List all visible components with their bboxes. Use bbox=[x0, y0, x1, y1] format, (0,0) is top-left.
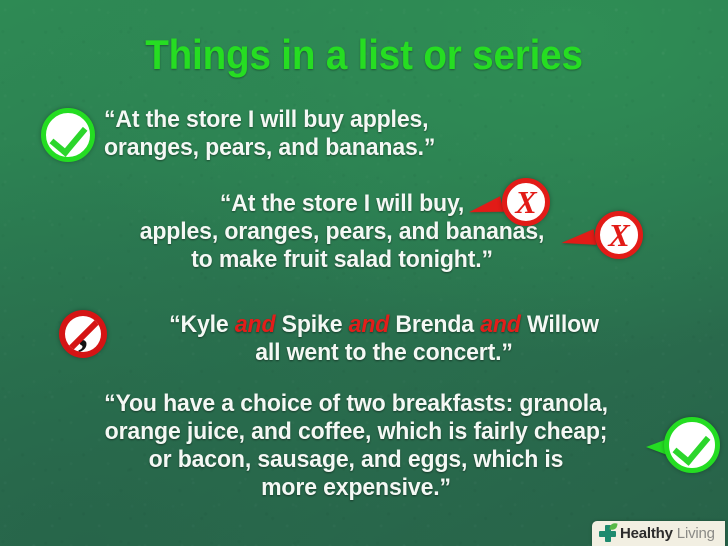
example-1-line-2: oranges, pears, and bananas.” bbox=[104, 134, 488, 162]
x-icon-2: X bbox=[595, 211, 643, 259]
no-comma-icon: , bbox=[59, 310, 107, 358]
example-4-line-2: orange juice, and coffee, which is fairl… bbox=[20, 418, 692, 446]
example-3-text: “Kyle and Spike and Brenda and Willow al… bbox=[115, 311, 653, 367]
example-2-text: “At the store I will buy, apples, orange… bbox=[37, 190, 648, 274]
healthy-living-logo: Healthy Living bbox=[592, 521, 725, 546]
example-3-line-2: all went to the concert.” bbox=[115, 339, 653, 367]
logo-light-text: Living bbox=[677, 525, 715, 542]
example-3-seg-2: Spike bbox=[275, 311, 348, 338]
no-comma-icon-field: , bbox=[65, 316, 101, 352]
page-title: Things in a list or series bbox=[29, 31, 699, 79]
check-icon-example-1 bbox=[41, 108, 95, 162]
x-icon-1: X bbox=[502, 178, 550, 226]
example-3-seg-1: “Kyle bbox=[169, 311, 235, 338]
leaf-shape bbox=[609, 522, 617, 530]
logo-bold-text: Healthy bbox=[620, 525, 673, 542]
check-icon-example-4 bbox=[664, 417, 720, 473]
example-3-seg-3: Brenda bbox=[389, 311, 480, 338]
example-4-text: “You have a choice of two breakfasts: gr… bbox=[20, 390, 692, 502]
example-4-line-4: more expensive.” bbox=[20, 474, 692, 502]
example-4-line-3: or bacon, sausage, and eggs, which is bbox=[20, 446, 692, 474]
example-3-and-1: and bbox=[235, 311, 276, 338]
example-3-seg-4: Willow bbox=[521, 311, 599, 338]
example-2-line-3: to make fruit salad tonight.” bbox=[37, 246, 648, 274]
example-3-and-2: and bbox=[349, 311, 390, 338]
example-2-line-1: “At the store I will buy, bbox=[37, 190, 648, 218]
example-3-and-3: and bbox=[480, 311, 521, 338]
green-plus-leaf-icon bbox=[599, 525, 616, 542]
example-4-line-1: “You have a choice of two breakfasts: gr… bbox=[20, 390, 692, 418]
example-1-text: “At the store I will buy apples, oranges… bbox=[104, 106, 488, 162]
slide-canvas: Things in a list or series “At the store… bbox=[0, 0, 728, 546]
example-3-line-1: “Kyle and Spike and Brenda and Willow bbox=[115, 311, 653, 339]
example-2-line-2: apples, oranges, pears, and bananas, bbox=[37, 218, 648, 246]
example-1-line-1: “At the store I will buy apples, bbox=[104, 106, 488, 134]
